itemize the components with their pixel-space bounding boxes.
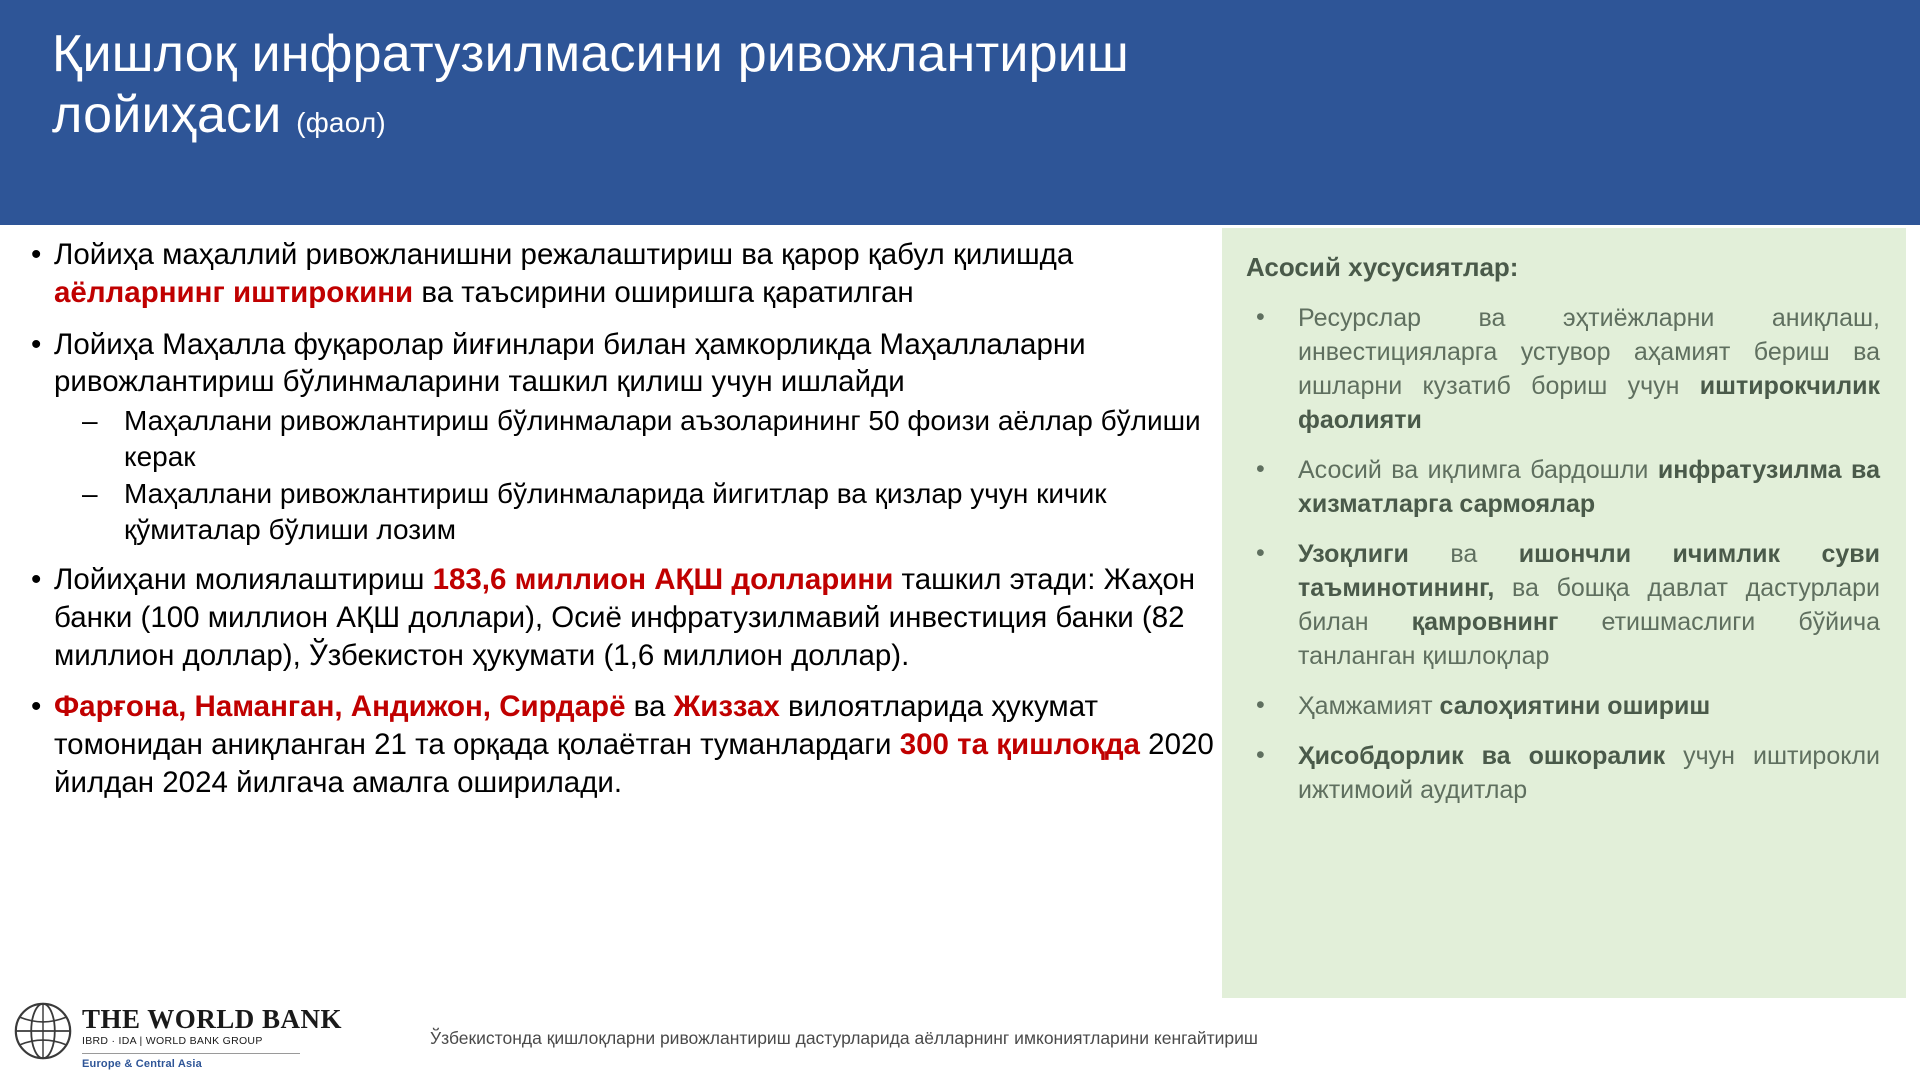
page-title: Қишлоқ инфратузилмасини ривожлантириш ло… [52, 24, 1860, 147]
green-item-infrastructure: • Асосий ва иқлимга бардошли инфратузилм… [1246, 453, 1880, 521]
bullet-marker-icon: • [31, 236, 41, 274]
bullet-regions: • Фарғона, Наманган, Андижон, Сирдарё ва… [14, 688, 1214, 801]
bullet-marker-icon: • [31, 561, 41, 599]
slide-header: Қишлоқ инфратузилмасини ривожлантириш ло… [0, 0, 1920, 225]
dash-marker-icon: – [82, 403, 98, 439]
green-item-text: Узоқлиги ва ишончли ичимлик суви таъмино… [1298, 540, 1880, 670]
bullet-highlight-segment: 183,6 миллион АҚШ долларини [433, 563, 894, 596]
bullet-highlight-segment: 300 та қишлоқда [900, 728, 1140, 761]
logo-divider [82, 1053, 300, 1054]
green-item-participation: • Ресурслар ва эҳтиёжларни аниқлаш, инве… [1246, 301, 1880, 437]
green-item-accountability: • Ҳисобдорлик ва ошкоралик учун иштирокл… [1246, 739, 1880, 807]
logo-region: Europe & Central Asia [82, 1058, 342, 1070]
slide-footer: THE WORLD BANK IBRD · IDA | WORLD BANK G… [0, 1000, 1920, 1080]
logo-subtitle: IBRD · IDA | WORLD BANK GROUP [82, 1036, 342, 1048]
bullet-marker-icon: • [1256, 300, 1265, 334]
bullet-text: Фарғона, Наманган, Андижон, Сирдарё ва Ж… [54, 690, 1214, 799]
bullet-text: Лойиҳа Маҳалла фуқаролар йиғинлари билан… [54, 328, 1086, 399]
bullet-text-segment: ва таъсирини оширишга қаратилган [413, 276, 914, 309]
green-item-text: Ҳисобдорлик ва ошкоралик учун иштирокли … [1298, 742, 1880, 804]
green-bold-segment: салоҳиятини ошириш [1439, 692, 1710, 720]
bullet-text-segment: Лойиҳа маҳаллий ривожланишни режалаштири… [54, 238, 1073, 271]
key-features-list: • Ресурслар ва эҳтиёжларни аниқлаш, инве… [1246, 301, 1880, 807]
globe-icon [14, 1002, 72, 1060]
footer-caption: Ўзбекистонда қишлоқларни ривожлантириш д… [430, 1028, 1258, 1049]
green-bold-segment: Узоқлиги [1298, 540, 1409, 568]
bullet-marker-icon: • [1256, 452, 1265, 486]
page-title-line2: лойиҳаси (фаол) [52, 85, 1860, 146]
bullet-highlight-segment: Фарғона, Наманган, Андижон, Сирдарё [54, 690, 625, 723]
bullet-marker-icon: • [1256, 738, 1265, 772]
green-item-text: Ресурслар ва эҳтиёжларни аниқлаш, инвест… [1298, 304, 1880, 434]
bullet-financing: • Лойиҳани молиялаштириш 183,6 миллион А… [14, 561, 1214, 674]
bullet-participation: • Лойиҳа маҳаллий ривожланишни режалашти… [14, 236, 1214, 312]
main-content: • Лойиҳа маҳаллий ривожланишни режалашти… [14, 236, 1214, 816]
logo-text-block: THE WORLD BANK IBRD · IDA | WORLD BANK G… [82, 1002, 342, 1070]
sub-bullet-text: Маҳаллани ривожлантириш бўлинмалари аъзо… [124, 405, 1201, 472]
bullet-text: Лойиҳа маҳаллий ривожланишни режалаштири… [54, 238, 1073, 309]
green-bold-segment: қамровнинг [1412, 608, 1559, 636]
key-features-title: Асосий хусусиятлар: [1246, 252, 1880, 283]
bullet-marker-icon: • [1256, 688, 1265, 722]
world-bank-logo: THE WORLD BANK IBRD · IDA | WORLD BANK G… [14, 1002, 342, 1070]
bullet-text: Лойиҳани молиялаштириш 183,6 миллион АҚШ… [54, 563, 1195, 672]
green-item-water: • Узоқлиги ва ишончли ичимлик суви таъми… [1246, 537, 1880, 673]
page-title-line2-text: лойиҳаси [52, 86, 282, 144]
sub-bullet-women-quota: – Маҳаллани ривожлантириш бўлинмалари аъ… [54, 403, 1214, 474]
green-item-text: Ҳамжамият салоҳиятини ошириш [1298, 692, 1710, 720]
sub-bullet-youth-committees: – Маҳаллани ривожлантириш бўлинмаларида … [54, 476, 1214, 547]
green-text-segment: ва [1409, 540, 1519, 568]
sub-bullet-list: – Маҳаллани ривожлантириш бўлинмалари аъ… [54, 403, 1214, 547]
green-text-segment: Асосий ва иқлимга бардошли [1298, 456, 1658, 484]
green-bold-segment: Ҳисобдорлик ва ошкоралик [1298, 742, 1665, 770]
green-text-segment: Ҳамжамият [1298, 692, 1439, 720]
bullet-mahalla: • Лойиҳа Маҳалла фуқаролар йиғинлари бил… [14, 326, 1214, 548]
status-badge: (фаол) [296, 107, 386, 138]
green-item-text: Асосий ва иқлимга бардошли инфратузилма … [1298, 456, 1880, 518]
logo-name: THE WORLD BANK [82, 1005, 342, 1033]
dash-marker-icon: – [82, 476, 98, 512]
bullet-highlight-segment: Жиззах [674, 690, 780, 723]
bullet-text-segment: ва [625, 690, 673, 723]
bullet-text-segment: Лойиҳани молиялаштириш [54, 563, 433, 596]
bullet-list: • Лойиҳа маҳаллий ривожланишни режалашти… [14, 236, 1214, 802]
bullet-highlight-segment: аёлларнинг иштирокини [54, 276, 413, 309]
green-item-capacity: • Ҳамжамият салоҳиятини ошириш [1246, 689, 1880, 723]
key-features-panel: Асосий хусусиятлар: • Ресурслар ва эҳтиё… [1222, 228, 1906, 998]
bullet-marker-icon: • [1256, 536, 1265, 570]
slide: Қишлоқ инфратузилмасини ривожлантириш ло… [0, 0, 1920, 1080]
sub-bullet-text: Маҳаллани ривожлантириш бўлинмаларида йи… [124, 478, 1106, 545]
bullet-marker-icon: • [31, 688, 41, 726]
bullet-marker-icon: • [31, 326, 41, 364]
page-title-line1: Қишлоқ инфратузилмасини ривожлантириш [52, 25, 1129, 83]
